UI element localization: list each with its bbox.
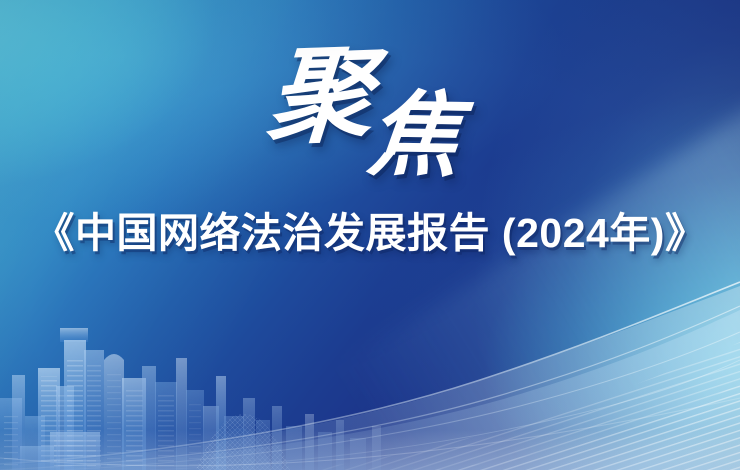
title-text: 《中国网络法治发展报告 (2024年)》 [34,210,707,256]
right-cyan-glow [0,0,740,470]
corner-teal-glow [0,0,740,470]
flowing-light-ribbons [0,280,740,470]
banner-title: 《中国网络法治发展报告 (2024年)》 [0,206,740,260]
city-skyline-silhouette [0,320,470,470]
promo-banner: 聚 焦 《中国网络法治发展报告 (2024年)》 [0,0,740,470]
vignette-overlay [0,0,740,470]
calligraphy-char-ju: 聚 [264,44,376,152]
diagonal-sheen [334,40,740,470]
diagonal-light-wash [0,0,740,470]
calligraphy-block: 聚 焦 [0,28,740,188]
calligraphy-char-jiao: 焦 [363,89,465,183]
